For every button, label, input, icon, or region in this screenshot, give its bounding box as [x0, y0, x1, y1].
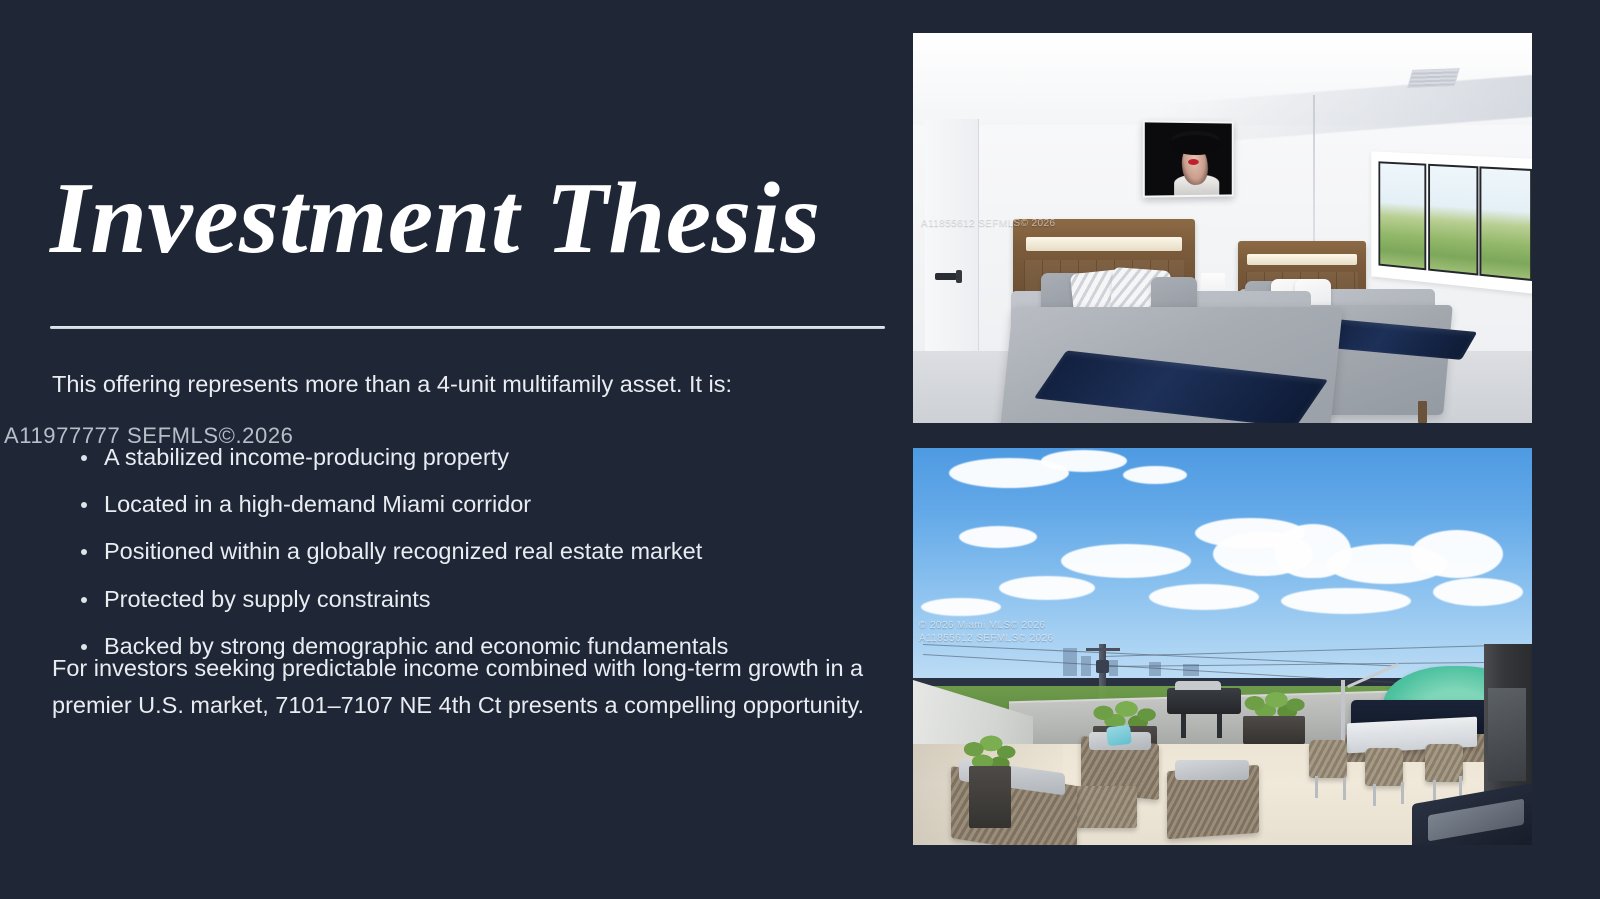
- bedroom-photo: A11855612 SEFMLS© 2026: [913, 33, 1532, 423]
- window-pane: [1429, 164, 1479, 276]
- planter-box: [969, 766, 1011, 828]
- seat-cushion: [1175, 760, 1249, 780]
- window-pane: [1479, 166, 1532, 281]
- rooftop-terrace-photo: © 2026 Miami MLS© 2026 A11855612 SEFMLS©…: [913, 448, 1532, 845]
- wall-artwork: [1143, 120, 1234, 197]
- slide-content-column: Investment Thesis This offering represen…: [0, 0, 905, 899]
- chair-leg: [1315, 776, 1318, 798]
- cloud: [1281, 588, 1411, 614]
- bullet-dot-icon: [81, 549, 87, 555]
- chair-leg: [1373, 784, 1376, 806]
- page-title: Investment Thesis: [50, 168, 890, 270]
- dining-chair: [1365, 748, 1403, 786]
- planter-box: [1243, 716, 1305, 744]
- list-item: Positioned within a globally recognized …: [78, 534, 898, 570]
- list-item: A stabilized income-producing property: [78, 440, 898, 476]
- chair-leg: [1433, 780, 1436, 802]
- ceiling-vent-icon: [1407, 68, 1460, 88]
- thesis-bullet-list: A stabilized income-producing property L…: [78, 440, 898, 676]
- cloud: [1041, 450, 1127, 472]
- list-item-label: Protected by supply constraints: [104, 586, 431, 612]
- cloud: [999, 576, 1095, 600]
- cloud: [1149, 584, 1259, 610]
- window-pane: [1378, 161, 1426, 270]
- list-item: Located in a high-demand Miami corridor: [78, 487, 898, 523]
- bullet-dot-icon: [81, 502, 87, 508]
- door-handle-icon: [935, 273, 957, 280]
- bed-leg: [1418, 401, 1427, 423]
- artwork-figure-hat: [1170, 134, 1221, 154]
- accent-pillow: [1106, 725, 1132, 746]
- cloud: [1433, 578, 1523, 606]
- cloud: [959, 526, 1037, 548]
- title-divider: [50, 326, 885, 329]
- list-item-label: Positioned within a globally recognized …: [104, 538, 702, 564]
- intro-paragraph: This offering represents more than a 4-u…: [52, 368, 882, 401]
- closing-paragraph: For investors seeking predictable income…: [52, 650, 882, 724]
- bedroom-window: [1371, 151, 1532, 294]
- bbq-grill: [1167, 688, 1241, 714]
- list-item: Protected by supply constraints: [78, 582, 898, 618]
- dining-chair: [1309, 740, 1347, 778]
- bullet-dot-icon: [81, 644, 87, 650]
- chair-leg: [1343, 778, 1346, 800]
- bullet-dot-icon: [81, 455, 87, 461]
- bullet-dot-icon: [81, 597, 87, 603]
- dining-chair: [1425, 744, 1463, 782]
- chair-leg: [1401, 782, 1404, 804]
- cloud: [1061, 544, 1191, 578]
- cloud: [1411, 530, 1503, 578]
- list-item-label: A stabilized income-producing property: [104, 444, 509, 470]
- list-item-label: Located in a high-demand Miami corridor: [104, 491, 531, 517]
- cloud: [1123, 466, 1187, 484]
- cloud: [921, 598, 1001, 616]
